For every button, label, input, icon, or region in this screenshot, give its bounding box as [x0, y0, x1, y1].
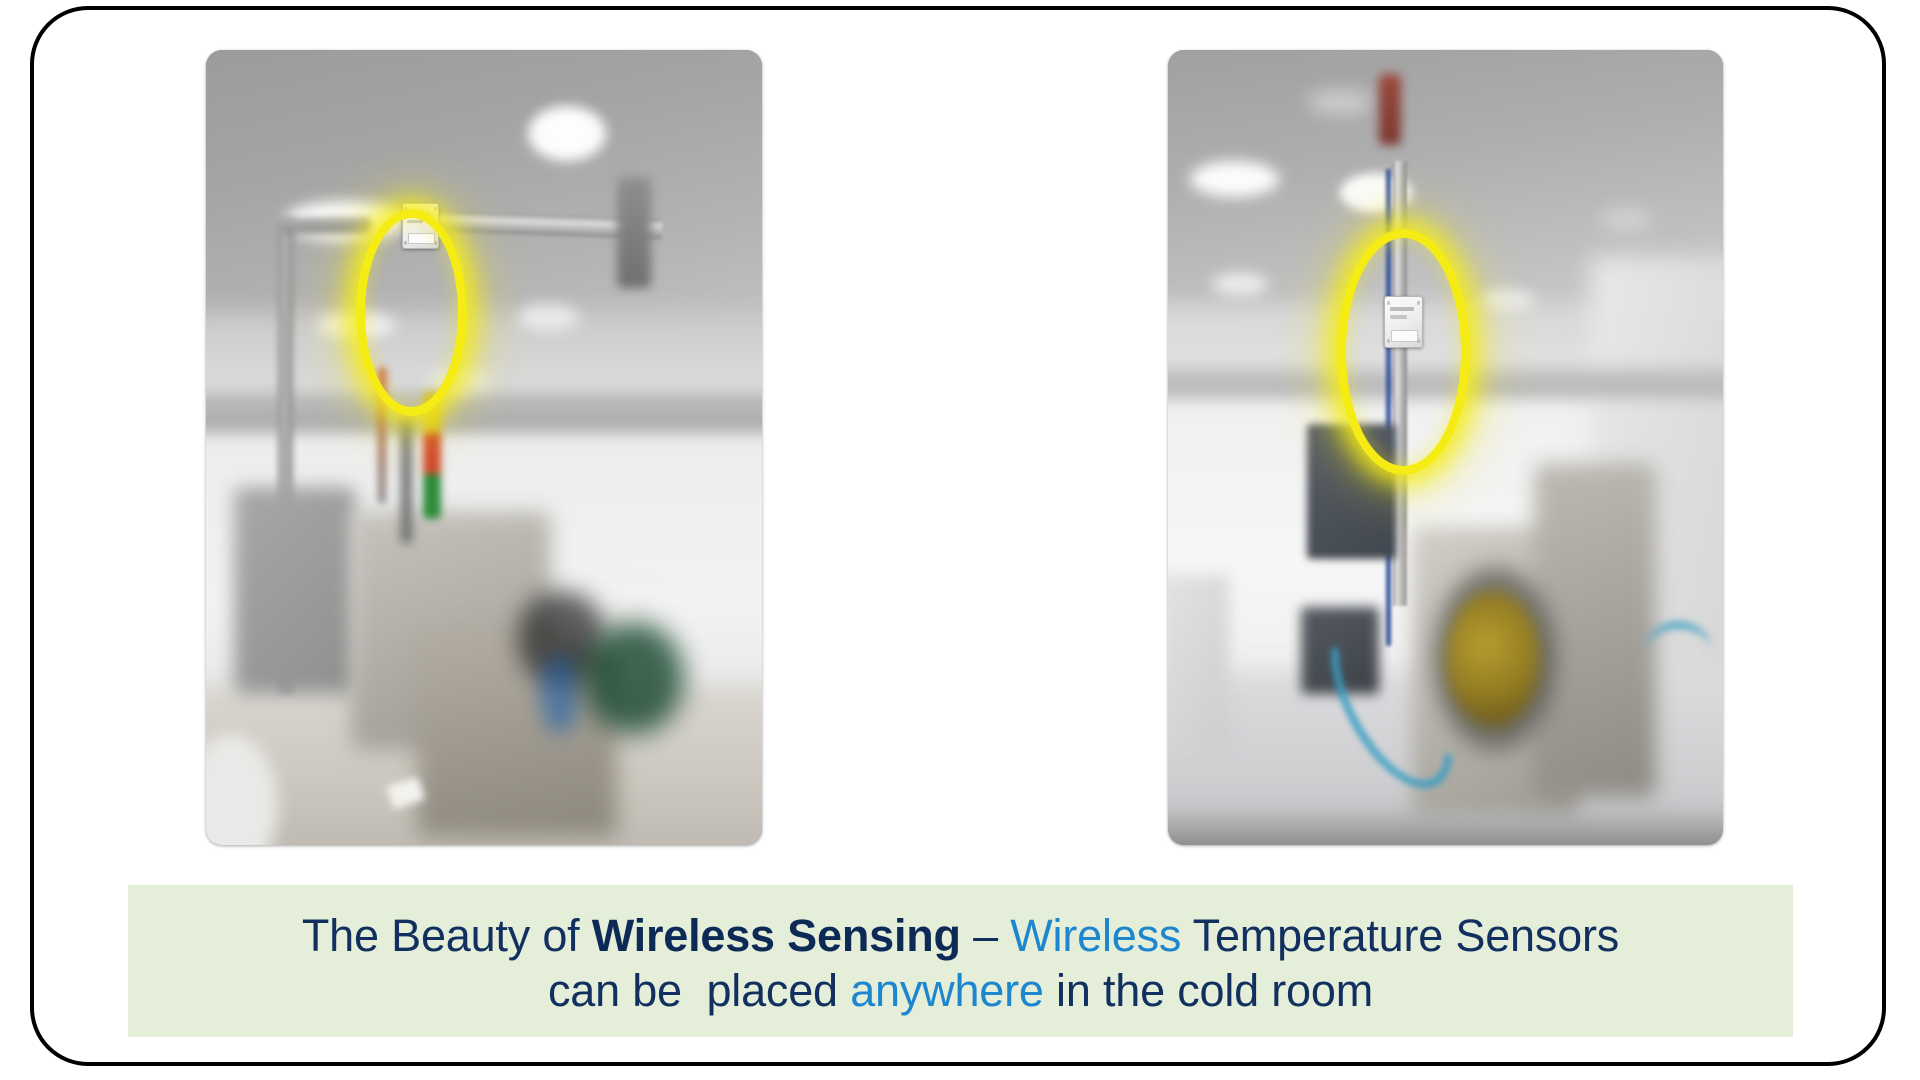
ceiling-light-icon	[1479, 289, 1535, 311]
left-photo-scene	[206, 50, 762, 845]
green-hose	[584, 622, 684, 733]
caption-run-accent: anywhere	[850, 965, 1044, 1016]
caption-line-1: The Beauty of Wireless Sensing – Wireles…	[302, 909, 1619, 964]
ceiling-duct	[617, 177, 650, 288]
caption-line-2: can be placed anywhere in the cold room	[548, 964, 1373, 1019]
equipment-cabinet	[1168, 575, 1229, 750]
caption-banner: The Beauty of Wireless Sensing – Wireles…	[128, 885, 1793, 1037]
caption-run-navy: Temperature Sensors	[1181, 910, 1619, 961]
ceiling-light-icon	[528, 106, 606, 162]
right-photo-scene	[1168, 50, 1723, 845]
ceiling-light-icon	[517, 304, 578, 331]
ceiling-light-icon	[1601, 209, 1651, 230]
highlight-ring-icon	[1337, 229, 1470, 475]
screw-icon	[434, 207, 437, 211]
support-pole-arm	[278, 217, 373, 234]
caption-run-navy: –	[961, 910, 1010, 961]
caption-run-accent: Wireless	[1010, 910, 1181, 961]
yellow-wheel	[1446, 591, 1540, 726]
equipment-block	[234, 487, 356, 694]
ceiling-light-icon	[1212, 273, 1268, 295]
caption-run-navy: The Beauty of	[302, 910, 592, 961]
highlight-ring-icon	[356, 209, 467, 416]
caption-run-bold: Wireless Sensing	[592, 910, 961, 961]
caption-run-navy: in the cold room	[1044, 965, 1373, 1016]
stack-light-stem	[401, 416, 412, 543]
right-photo[interactable]	[1168, 50, 1723, 845]
slide-canvas: The Beauty of Wireless Sensing – Wireles…	[0, 0, 1920, 1080]
ceiling-fitting	[1379, 74, 1401, 146]
ceiling-light-icon	[1307, 90, 1374, 114]
blue-hose	[540, 654, 579, 734]
blue-hose	[1645, 622, 1712, 684]
ceiling-light-icon	[1190, 161, 1279, 197]
caption-run-navy: can be placed	[548, 965, 850, 1016]
left-photo[interactable]	[206, 50, 762, 845]
floor-shadow	[1168, 805, 1723, 845]
